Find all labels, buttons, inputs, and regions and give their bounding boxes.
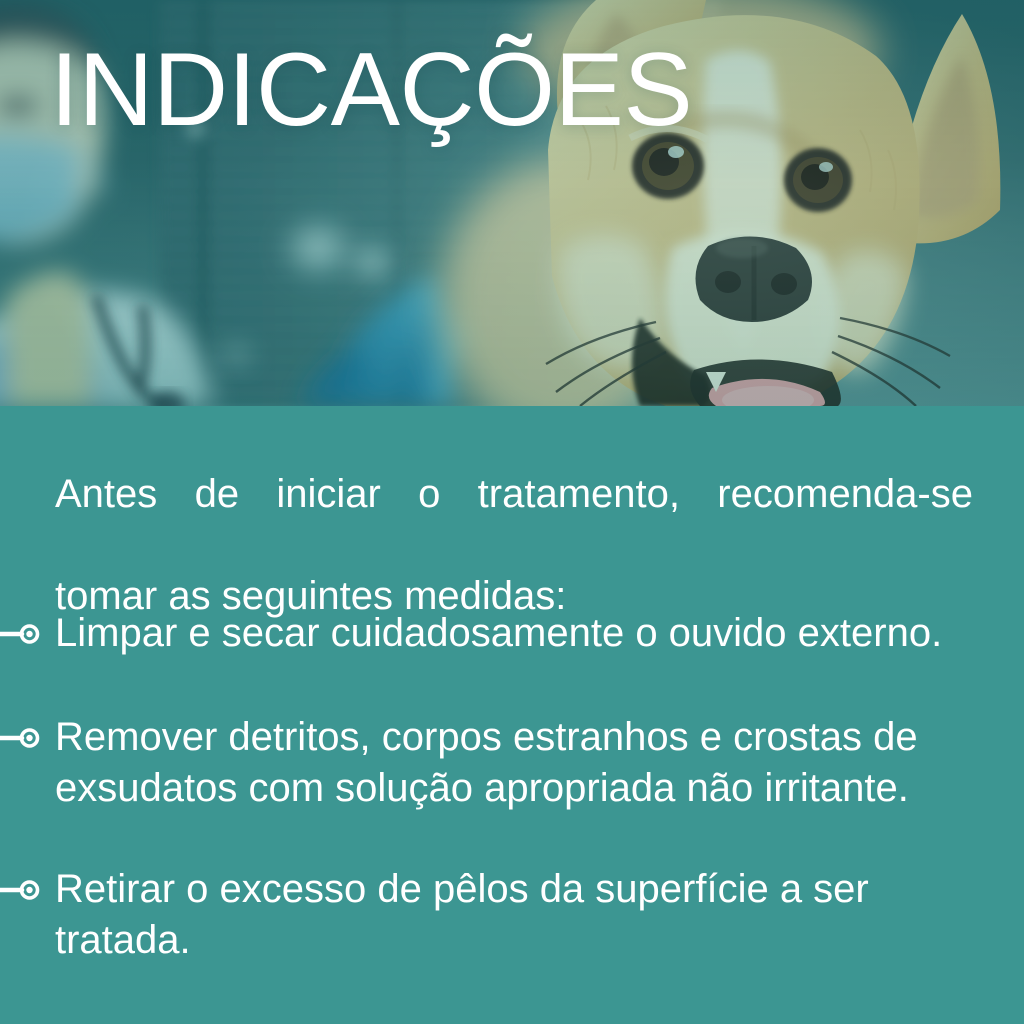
line-ring-dot-icon bbox=[0, 712, 41, 764]
list-item: Retirar o excesso de pêlos da superfície… bbox=[0, 864, 1024, 966]
measures-list: Limpar e secar cuidadosamente o ouvido e… bbox=[0, 608, 1024, 966]
list-item-label: Limpar e secar cuidadosamente o ouvido e… bbox=[41, 608, 1024, 659]
list-item: Remover detritos, corpos estranhos e cro… bbox=[0, 712, 1024, 814]
content-panel: Antes de iniciar o tratamento, recomenda… bbox=[0, 406, 1024, 1024]
list-item: Limpar e secar cuidadosamente o ouvido e… bbox=[0, 608, 1024, 662]
list-item-label: Remover detritos, corpos estranhos e cro… bbox=[41, 712, 1024, 814]
indicacoes-poster: INDICAÇÕES Antes de iniciar o tratamento… bbox=[0, 0, 1024, 1024]
intro-line-1: Antes de iniciar o tratamento, recomenda… bbox=[55, 469, 973, 571]
line-ring-dot-icon bbox=[0, 864, 41, 916]
list-item-label: Retirar o excesso de pêlos da superfície… bbox=[41, 864, 1024, 966]
page-title: INDICAÇÕES bbox=[50, 38, 692, 142]
line-ring-dot-icon bbox=[0, 608, 41, 660]
intro-paragraph: Antes de iniciar o tratamento, recomenda… bbox=[55, 469, 973, 622]
